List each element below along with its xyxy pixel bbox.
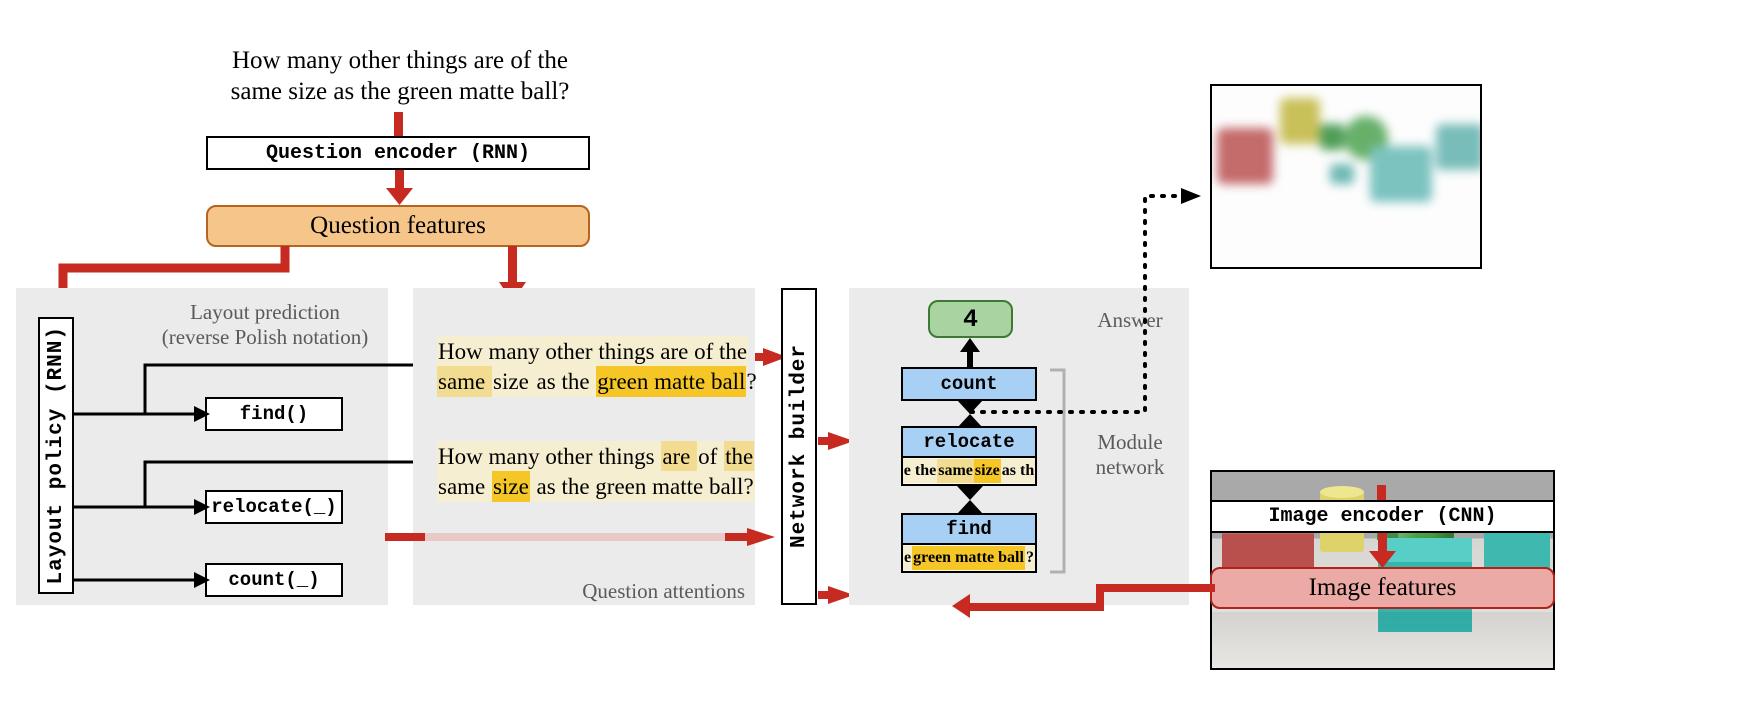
- layout-prediction-title-line-1: Layout prediction: [150, 300, 380, 325]
- module-relocate-label: relocate: [923, 431, 1014, 453]
- question-encoder-box[interactable]: Question encoder (RNN): [206, 136, 590, 170]
- arrow-image-encoder-to-image-features: [1365, 533, 1401, 569]
- image-encoder-box[interactable]: Image encoder (CNN): [1210, 500, 1555, 533]
- image-attention-visualization: [1210, 84, 1482, 269]
- question-features-box[interactable]: Question features: [206, 205, 590, 247]
- attention-relocate-line-2: same size as the green matte ball?: [437, 472, 737, 502]
- module-find[interactable]: find: [901, 513, 1037, 545]
- module-relocate[interactable]: relocate: [901, 426, 1037, 458]
- module-find-attention: e green matte ball ?: [901, 545, 1037, 573]
- module-relocate-attention: e the same size as th: [901, 458, 1037, 486]
- network-builder-label: Network builder: [788, 344, 811, 548]
- module-network-caption-line-2: network: [1075, 455, 1185, 480]
- image-encoder-label: Image encoder (CNN): [1268, 505, 1496, 528]
- layout-token-count[interactable]: count(_): [205, 563, 343, 597]
- attention-find-line-2: same size as the green matte ball?: [437, 367, 737, 397]
- image-features-label: Image features: [1309, 574, 1457, 602]
- question-features-label: Question features: [310, 212, 486, 240]
- layout-token-count-label: count(_): [228, 569, 319, 591]
- module-network-caption: Module network: [1075, 430, 1185, 480]
- attention-relocate-line-1: How many other things are of the: [437, 442, 737, 472]
- connector-find-to-relocate: [955, 486, 985, 514]
- question-line-2: same size as the green matte ball?: [205, 76, 595, 107]
- module-find-label: find: [946, 518, 992, 540]
- attention-block-find: How many other things are of the same si…: [437, 337, 737, 397]
- question-encoder-label: Question encoder (RNN): [266, 142, 530, 165]
- layout-policy-rnn-label: Layout policy (RNN): [45, 326, 68, 584]
- module-network-caption-line-1: Module: [1075, 430, 1185, 455]
- network-builder-box[interactable]: Network builder: [781, 288, 817, 605]
- attention-find-line-1: How many other things are of the: [437, 337, 737, 367]
- dotted-attention-visualization-link: [965, 186, 1205, 416]
- question-line-1: How many other things are of the: [205, 45, 595, 76]
- question-attentions-caption: Question attentions: [500, 579, 745, 604]
- arrow-image-features-to-modules: [940, 580, 1220, 615]
- blurred-scene-objects: [1210, 84, 1482, 269]
- arrow-layout-to-network-builder: [385, 528, 780, 548]
- attention-block-relocate: How many other things are of the same si…: [437, 442, 737, 502]
- arrow-encoder-to-question-features: [382, 170, 418, 206]
- input-question-text: How many other things are of the same si…: [205, 45, 595, 107]
- image-features-box[interactable]: Image features: [1210, 567, 1555, 609]
- layout-policy-rnn-box[interactable]: Layout policy (RNN): [38, 317, 74, 594]
- arrow-question-to-encoder: [390, 112, 410, 138]
